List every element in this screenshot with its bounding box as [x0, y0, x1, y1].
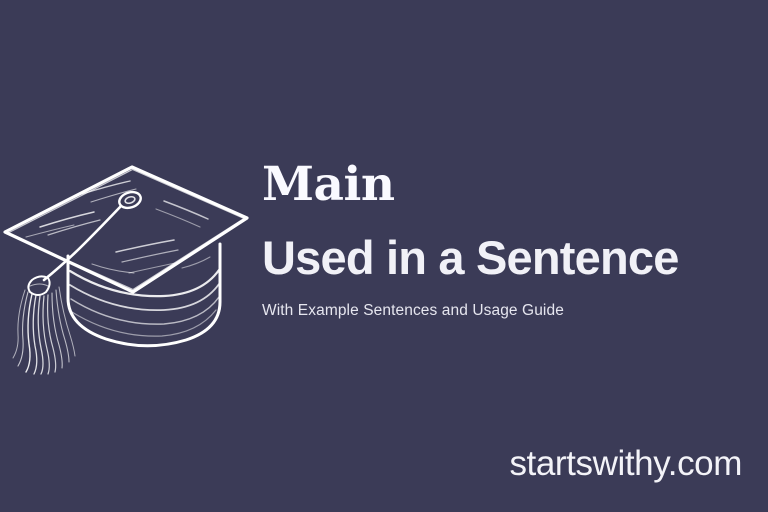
brand-watermark: startswithy.com — [509, 444, 742, 484]
promo-card: Main Used in a Sentence With Example Sen… — [0, 0, 768, 512]
graduation-cap-icon — [0, 140, 268, 375]
word-label: Main — [262, 160, 762, 210]
page-title: Used in a Sentence — [262, 232, 762, 284]
headline-block: Main Used in a Sentence With Example Sen… — [262, 160, 762, 321]
page-subtitle: With Example Sentences and Usage Guide — [262, 301, 762, 321]
